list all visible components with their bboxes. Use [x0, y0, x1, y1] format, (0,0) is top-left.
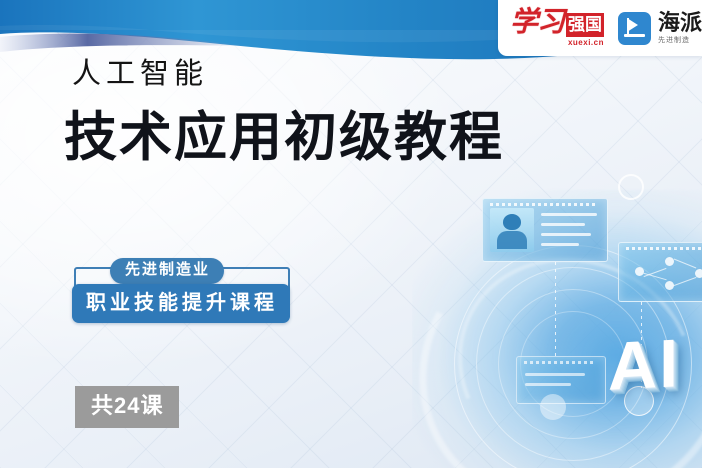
haipai-subtitle: 先进制造 — [658, 35, 702, 45]
slide-canvas: AI — [0, 0, 702, 468]
ai-ring-inner — [520, 311, 626, 417]
network-node — [665, 281, 674, 290]
avatar — [490, 208, 534, 252]
network-node — [635, 267, 644, 276]
xuexi-url-text: xuexi.cn — [568, 38, 604, 47]
play-stem — [627, 18, 629, 35]
network-edge — [674, 259, 697, 269]
ai-hologram-illustration: AI — [412, 150, 702, 468]
holo-panel — [516, 356, 606, 404]
xuexi-calligraphy-text: 学习 — [510, 9, 564, 37]
ai-ring — [498, 289, 648, 439]
holo-profile-panel — [482, 198, 608, 262]
lesson-count-tag: 共24课 — [75, 386, 179, 428]
holo-header-bar — [490, 203, 598, 206]
badge-category-pill: 先进制造业 — [110, 258, 224, 284]
haipai-logo[interactable]: 海派 先进制造 — [618, 11, 702, 45]
xuexi-block-text: 强国 — [566, 13, 604, 37]
partner-logo-panel: 学习 强国 xuexi.cn 海派 先进制造 — [498, 0, 702, 56]
person-icon — [540, 394, 566, 420]
ai-arc-band-secondary — [423, 220, 702, 468]
haipai-name: 海派 — [658, 11, 702, 34]
holo-text-line — [525, 383, 571, 386]
ai-wordmark: AI — [608, 324, 680, 406]
ai-ring — [476, 267, 670, 461]
ai-ring-outer — [454, 245, 692, 468]
ai-glow — [412, 190, 702, 468]
xuexi-logo-row: 学习 强国 — [510, 9, 604, 37]
holo-text-line — [541, 223, 585, 226]
page-title: 技术应用初级教程 — [64, 95, 504, 171]
chat-bubble-icon — [624, 386, 654, 416]
course-badge-group: 先进制造业 职业技能提升课程 — [74, 258, 290, 324]
page-kicker: 人工智能 — [72, 50, 208, 92]
network-node — [665, 257, 674, 266]
network-edge — [644, 268, 667, 277]
xuexi-logo[interactable]: 学习 强国 xuexi.cn — [510, 9, 604, 47]
holo-text-line — [525, 373, 585, 376]
holo-text-line — [541, 213, 597, 216]
holo-text-line — [541, 243, 579, 246]
holo-text-line — [541, 233, 591, 236]
network-node — [695, 269, 702, 278]
network-edge — [674, 277, 697, 286]
play-base — [624, 34, 645, 37]
haipai-text-group: 海派 先进制造 — [658, 11, 702, 45]
network-edge — [643, 273, 666, 281]
ai-connector-line — [641, 302, 642, 388]
avatar-body — [497, 231, 527, 249]
holo-header-bar — [626, 247, 702, 250]
ai-connector-line — [555, 262, 556, 358]
gear-icon — [618, 174, 644, 200]
play-stand-icon — [618, 12, 651, 45]
holo-header-bar — [524, 361, 596, 364]
avatar-head — [503, 214, 521, 230]
badge-course-bar: 职业技能提升课程 — [72, 284, 290, 323]
holo-network-panel — [618, 242, 702, 302]
ai-arc-band — [412, 186, 702, 468]
